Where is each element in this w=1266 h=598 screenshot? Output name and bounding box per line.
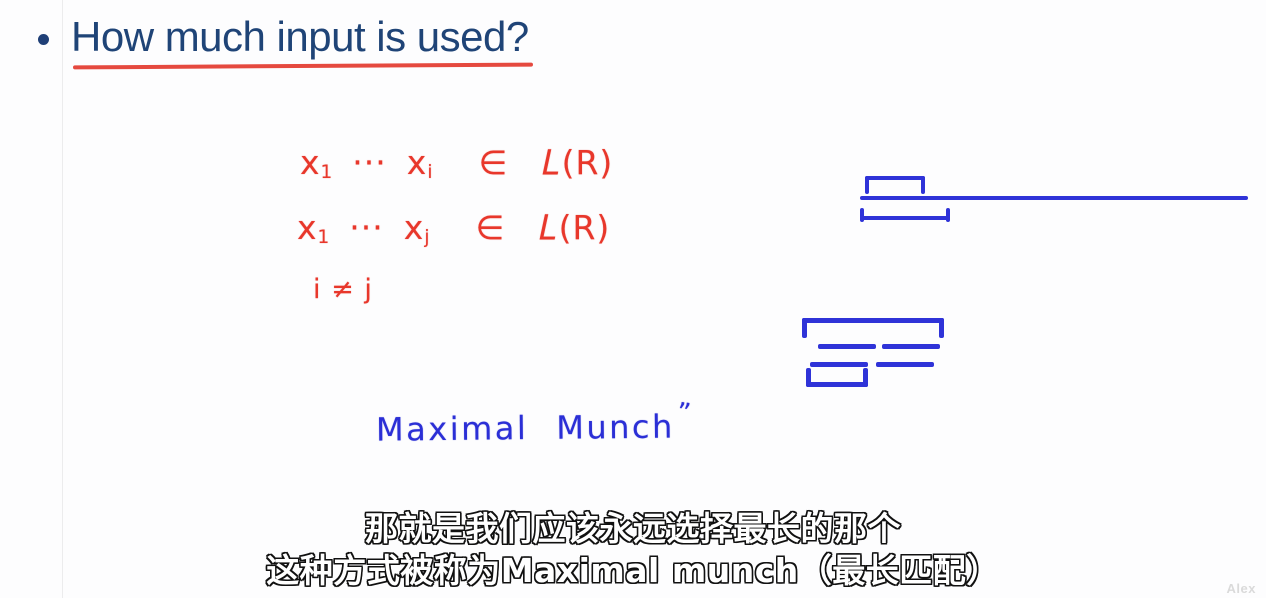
slide-margin-rule — [62, 0, 63, 598]
token-split-diagram — [800, 312, 960, 392]
page-title-wrapper: How much input is used? — [71, 14, 529, 66]
eq2-lhs-last-var: x — [404, 208, 425, 247]
short-match-bracket-top-bar — [865, 176, 925, 180]
outer-bracket-top-bar — [802, 318, 944, 323]
eq1-lhs-last-var: x — [407, 143, 428, 182]
title-underline — [73, 63, 533, 70]
maximal-munch-word-1: Maximal — [376, 409, 529, 449]
eq2-lhs-last-sub: j — [424, 227, 429, 248]
video-frame: How much input is used? x1···xi∈L(R) x1·… — [0, 0, 1266, 598]
subtitle-line-2: 这种方式被称为Maximal munch（最长匹配） — [0, 550, 1266, 592]
eq2-paren-close: ) — [596, 208, 610, 247]
handwritten-constraint: i ≠ j — [313, 274, 373, 305]
subtitle-overlay: 那就是我们应该永远选择最长的那个 这种方式被称为Maximal munch（最长… — [0, 508, 1266, 592]
bullet-point-icon — [38, 34, 49, 45]
page-title: How much input is used? — [71, 14, 529, 60]
input-stream-line — [860, 196, 1248, 200]
eq2-lhs-first-sub: 1 — [318, 227, 330, 248]
eq1-lhs-first-sub: 1 — [321, 162, 333, 183]
short-match-bracket-right-tick — [921, 176, 925, 194]
constraint-relation: ≠ — [331, 274, 355, 305]
short-match-bracket-left-tick — [865, 176, 869, 194]
outer-bracket-left-tick — [802, 318, 807, 338]
eq1-lhs-first-var: x — [300, 143, 321, 182]
eq2-ellipsis: ··· — [349, 208, 383, 247]
inner-bracket-bottom-bar — [806, 382, 868, 387]
handwritten-maximal-munch: MaximalMunch” — [376, 398, 693, 448]
input-line-diagram — [855, 168, 1255, 228]
handwritten-equation-1: x1···xi∈L(R) — [300, 143, 613, 183]
eq2-regex-symbol: R — [572, 208, 596, 247]
eq1-ellipsis: ··· — [352, 143, 386, 182]
inner-bracket-left-tick — [806, 368, 811, 387]
eq1-paren-close: ) — [599, 143, 613, 182]
eq1-relation: ∈ — [478, 143, 508, 182]
eq2-lhs-first-var: x — [297, 208, 318, 247]
maximal-munch-word-2: Munch — [556, 408, 675, 447]
inner-bracket-right-tick — [863, 368, 868, 387]
inner-segment-b — [882, 344, 940, 349]
eq2-relation: ∈ — [475, 208, 505, 247]
eq1-lhs-last-sub: i — [427, 162, 432, 183]
long-match-bracket-bottom-bar — [860, 216, 950, 220]
slide-title-row: How much input is used? — [38, 14, 529, 66]
constraint-right: j — [364, 274, 373, 305]
handwritten-equation-2: x1···xj∈L(R) — [297, 208, 610, 248]
eq1-regex-symbol: R — [575, 143, 599, 182]
long-match-bracket-right-tick — [946, 208, 950, 222]
subtitle-line-1: 那就是我们应该永远选择最长的那个 — [0, 508, 1266, 550]
inner-segment-d — [876, 362, 934, 367]
maximal-munch-quote-mark: ” — [675, 398, 695, 430]
inner-segment-a — [818, 344, 876, 349]
constraint-left: i — [313, 274, 322, 305]
watermark-label: Alex — [1227, 581, 1256, 596]
long-match-bracket-left-tick — [860, 208, 864, 222]
inner-segment-c — [810, 362, 868, 367]
outer-bracket-right-tick — [939, 318, 944, 338]
